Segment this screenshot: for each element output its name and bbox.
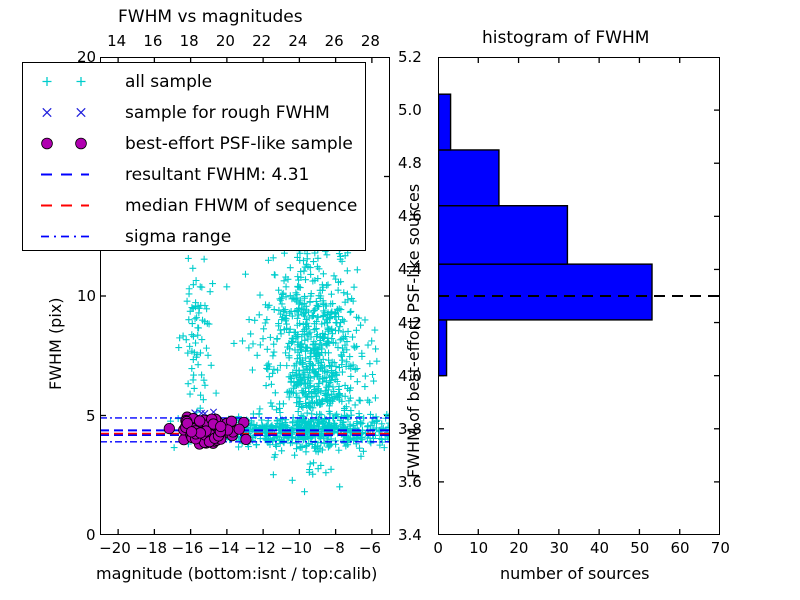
right-x-tick: 70 <box>711 539 730 557</box>
left-bottom-tick: −6 <box>359 539 381 557</box>
legend-item: best-effort PSF-like sample <box>29 128 365 159</box>
left-bottom-tick: −10 <box>280 539 312 557</box>
legend-item-label: sigma range <box>125 227 231 247</box>
legend-item-label: best-effort PSF-like sample <box>125 134 353 154</box>
legend-item: all sample <box>29 66 365 97</box>
dashdot-line <box>29 221 125 252</box>
legend-item-label: all sample <box>125 72 212 92</box>
legend-item-label: resultant FWHM: 4.31 <box>125 165 309 185</box>
left-yaxis-title: FWHM (pix) <box>46 298 65 391</box>
dashed-line <box>29 159 125 190</box>
left-top-tick: 20 <box>216 32 235 50</box>
circle-marker <box>29 128 125 159</box>
legend-item: resultant FWHM: 4.31 <box>29 159 365 190</box>
right-y-tick: 5.0 <box>398 101 422 119</box>
dashed-line <box>29 190 125 221</box>
right-x-tick: 10 <box>469 539 488 557</box>
left-top-tick: 14 <box>107 32 126 50</box>
left-bottom-tick: −14 <box>208 539 240 557</box>
right-panel-title: histogram of FWHM <box>482 28 649 48</box>
legend-item: sigma range <box>29 221 365 252</box>
legend-item: median FHWM of sequence <box>29 190 365 221</box>
legend-item-label: sample for rough FWHM <box>125 103 330 123</box>
left-xaxis-title: magnitude (bottom:isnt / top:calib) <box>96 564 377 583</box>
left-bottom-tick: −16 <box>172 539 204 557</box>
left-top-tick: 24 <box>288 32 307 50</box>
right-x-tick: 50 <box>630 539 649 557</box>
left-bottom-tick: −18 <box>135 539 167 557</box>
left-top-tick: 22 <box>252 32 271 50</box>
left-y-tick: 5 <box>86 407 96 425</box>
right-yaxis-title: FWHM of best-effort PSF-like sources <box>404 184 423 478</box>
cross-marker <box>29 97 125 128</box>
right-x-tick: 30 <box>550 539 569 557</box>
figure-canvas: FWHM vs magnitudes 1416182022242628 −20−… <box>0 0 800 600</box>
right-x-tick: 60 <box>671 539 690 557</box>
legend-item-label: median FHWM of sequence <box>125 196 357 216</box>
left-panel-title: FWHM vs magnitudes <box>118 7 303 27</box>
right-xaxis-title: number of sources <box>500 564 650 583</box>
right-plot-frame <box>438 57 720 535</box>
right-x-tick: 0 <box>433 539 443 557</box>
left-bottom-tick: −20 <box>99 539 131 557</box>
left-bottom-tick: −8 <box>323 539 345 557</box>
left-top-tick: 28 <box>361 32 380 50</box>
legend-item: sample for rough FWHM <box>29 97 365 128</box>
left-top-tick: 18 <box>180 32 199 50</box>
legend: all samplesample for rough FWHMbest-effo… <box>22 62 366 251</box>
right-x-tick: 40 <box>590 539 609 557</box>
left-top-tick: 26 <box>325 32 344 50</box>
right-y-tick: 5.2 <box>398 48 422 66</box>
right-x-tick: 20 <box>509 539 528 557</box>
right-y-tick: 4.8 <box>398 154 422 172</box>
left-bottom-tick: −12 <box>244 539 276 557</box>
left-y-tick: 0 <box>86 526 96 544</box>
left-top-tick: 16 <box>143 32 162 50</box>
plus-marker <box>29 66 125 97</box>
right-y-tick: 3.4 <box>398 526 422 544</box>
left-y-tick: 10 <box>77 287 96 305</box>
